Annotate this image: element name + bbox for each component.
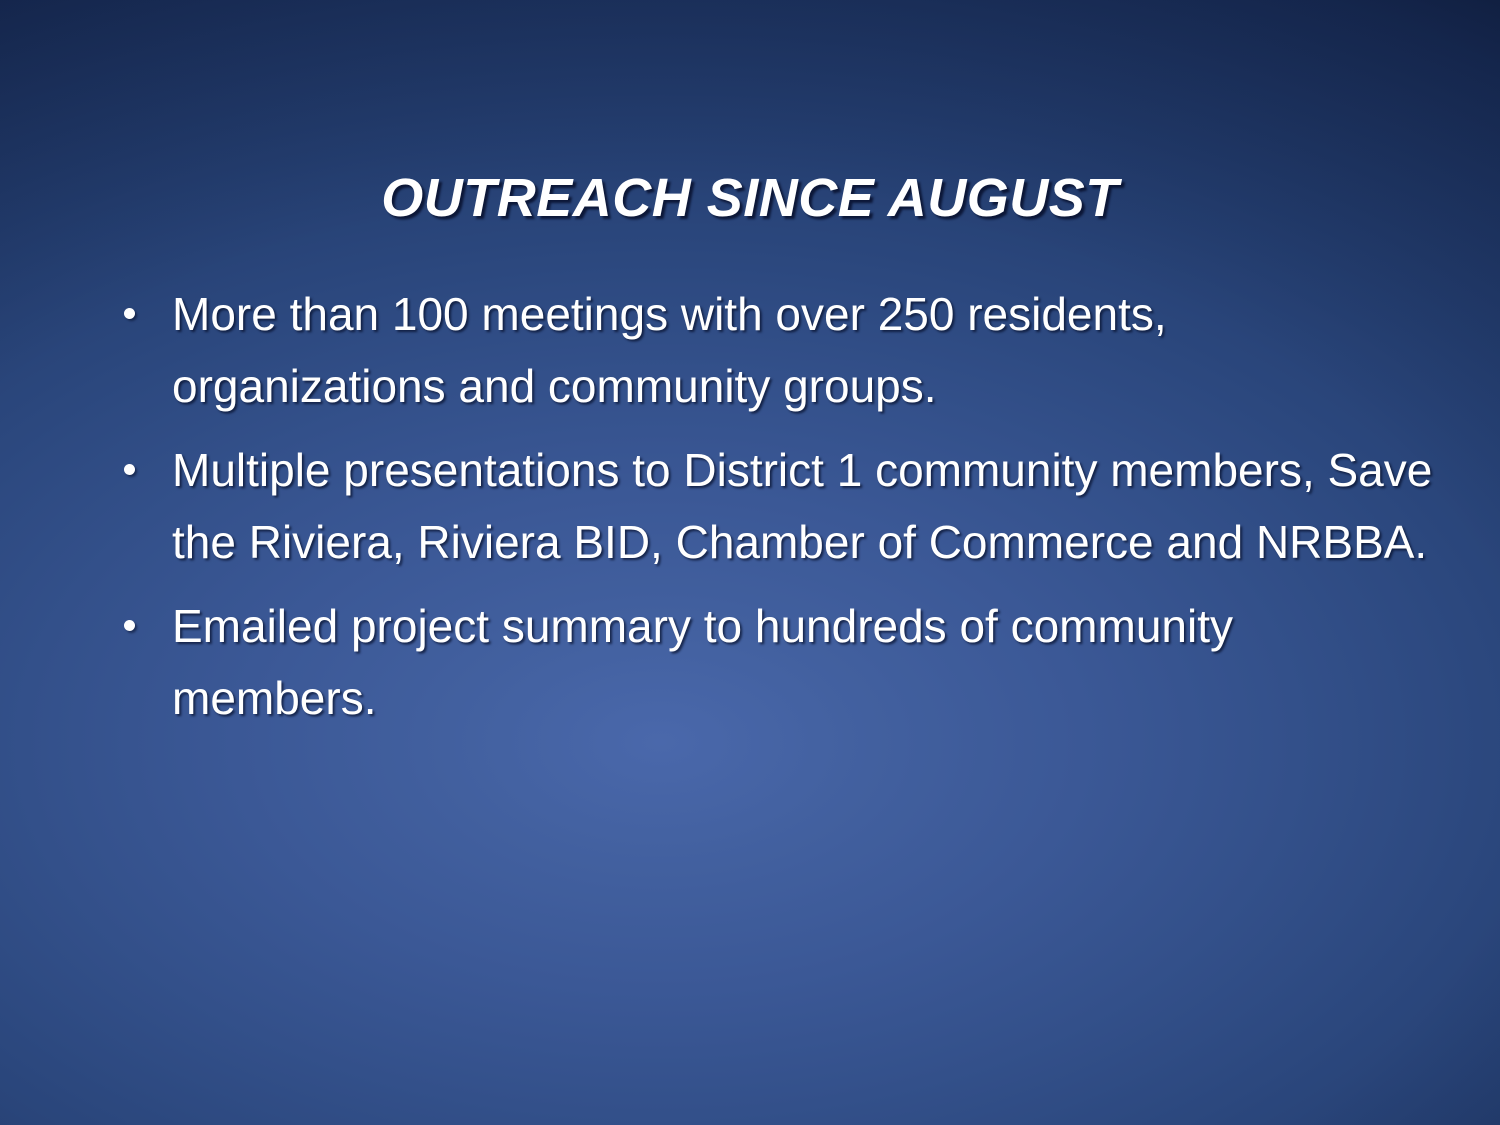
slide-title: OUTREACH SINCE AUGUST	[0, 167, 1500, 229]
list-item-text: More than 100 meetings with over 250 res…	[172, 278, 1442, 422]
list-item: More than 100 meetings with over 250 res…	[112, 278, 1442, 422]
bullet-list: More than 100 meetings with over 250 res…	[112, 278, 1442, 734]
list-item-text: Multiple presentations to District 1 com…	[172, 434, 1442, 578]
list-item: Emailed project summary to hundreds of c…	[112, 590, 1442, 734]
round-bullet-icon	[124, 308, 135, 319]
list-item: Multiple presentations to District 1 com…	[112, 434, 1442, 578]
round-bullet-icon	[124, 620, 135, 631]
list-item-text: Emailed project summary to hundreds of c…	[172, 590, 1442, 734]
slide-content: OUTREACH SINCE AUGUST More than 100 meet…	[0, 0, 1500, 1125]
round-bullet-icon	[124, 464, 135, 475]
presentation-slide: OUTREACH SINCE AUGUST More than 100 meet…	[0, 0, 1500, 1125]
